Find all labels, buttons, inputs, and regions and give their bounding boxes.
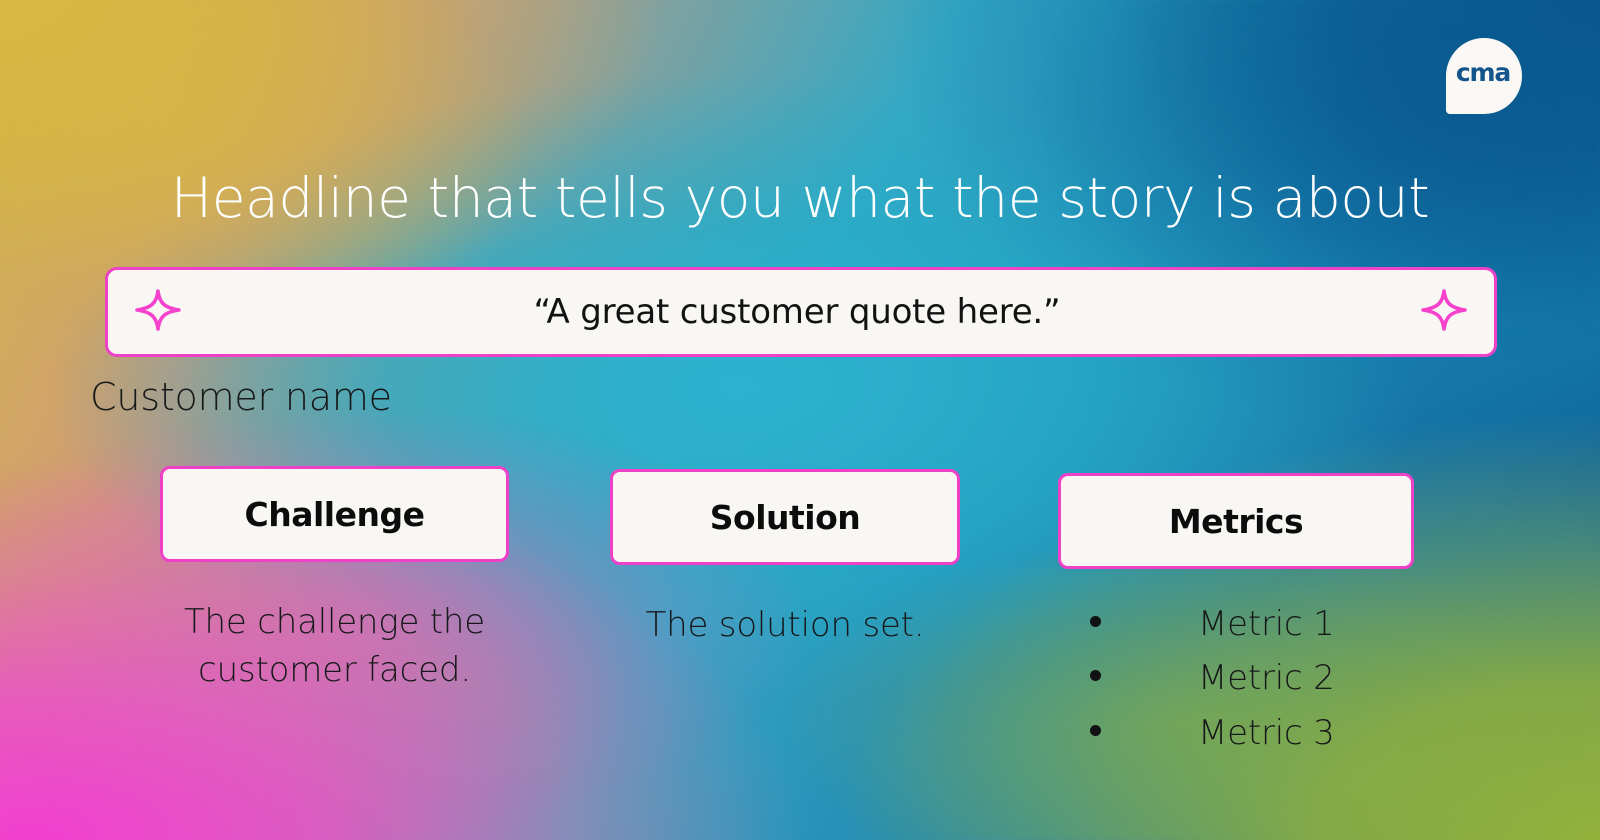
cma-logo: cma — [1446, 38, 1522, 114]
slide-canvas: cma Headline that tells you what the sto… — [0, 0, 1600, 840]
card-body-solution: The solution set. — [610, 601, 960, 649]
customer-quote-text: “A great customer quote here.” — [178, 292, 1416, 332]
customer-name-label: Customer name — [90, 375, 392, 419]
metric-label: Metric 1 — [1198, 597, 1335, 651]
card-title-solution: Solution — [610, 469, 960, 565]
column-solution: Solution The solution set. — [610, 466, 960, 649]
sparkle-icon — [1420, 288, 1468, 336]
card-title-challenge: Challenge — [160, 466, 509, 562]
list-item: Metric 3 — [1090, 706, 1414, 760]
column-metrics: Metrics Metric 1 Metric 2 Metric 3 — [1058, 466, 1414, 760]
customer-quote-card: “A great customer quote here.” — [105, 267, 1497, 357]
card-title-metrics: Metrics — [1058, 473, 1414, 569]
list-item: Metric 1 — [1090, 597, 1414, 651]
logo-speech-bubble-icon: cma — [1446, 38, 1522, 114]
sparkle-icon — [134, 288, 182, 336]
bullet-icon — [1090, 670, 1101, 681]
metrics-list: Metric 1 Metric 2 Metric 3 — [1058, 597, 1414, 760]
page-title: Headline that tells you what the story i… — [0, 168, 1600, 230]
card-body-challenge: The challenge the customer faced. — [160, 598, 509, 695]
metric-label: Metric 3 — [1198, 706, 1335, 760]
logo-wordmark: cma — [1456, 60, 1510, 85]
list-item: Metric 2 — [1090, 651, 1414, 705]
content-columns: Challenge The challenge the customer fac… — [0, 466, 1600, 796]
bullet-icon — [1090, 725, 1101, 736]
column-challenge: Challenge The challenge the customer fac… — [160, 466, 509, 695]
bullet-icon — [1090, 616, 1101, 627]
metric-label: Metric 2 — [1198, 651, 1335, 705]
